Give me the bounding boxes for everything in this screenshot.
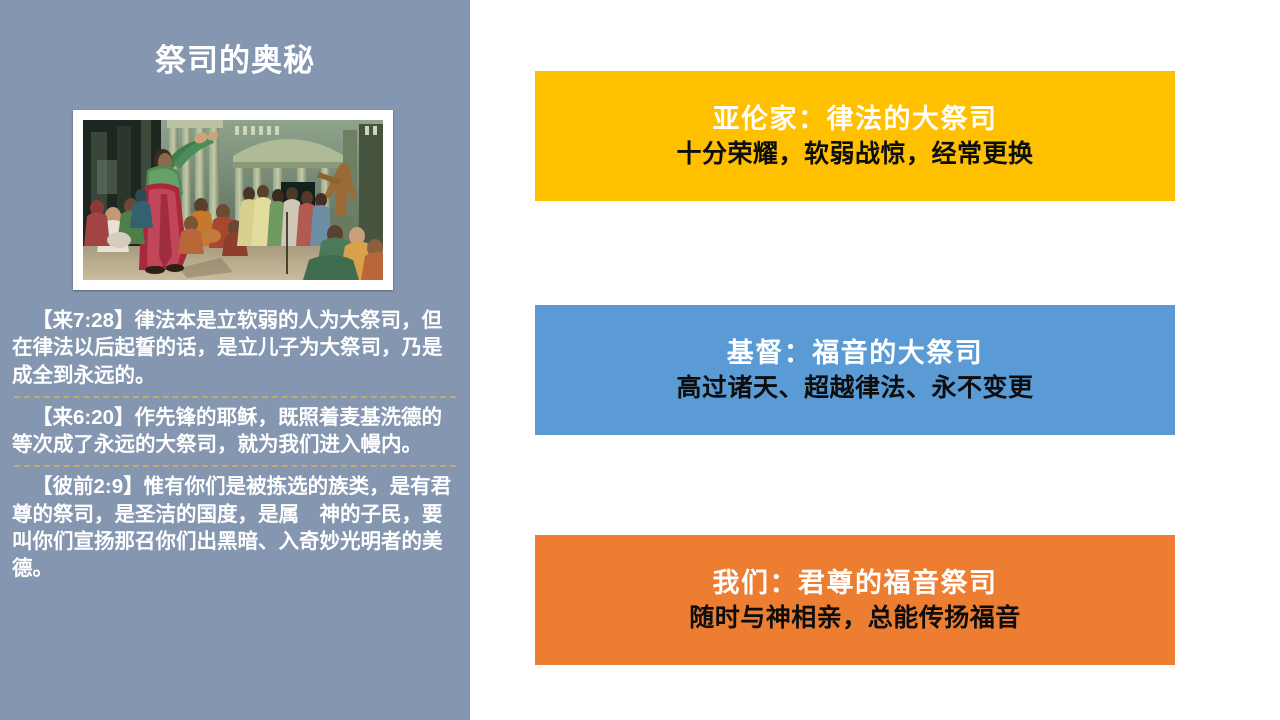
scripture-verse: 【来6:20】作先锋的耶稣，既照着麦基洗德的等次成了永远的大祭司，就为我们进入幔… [12, 403, 458, 463]
callout-title: 基督：福音的大祭司 [727, 337, 984, 369]
scripture-divider [14, 465, 456, 467]
scripture-list: 【来7:28】律法本是立软弱的人为大祭司，但在律法以后起誓的话，是立儿子为大祭司… [0, 306, 470, 586]
callout-title: 亚伦家：律法的大祭司 [713, 103, 998, 135]
callout-subtitle: 高过诸天、超越律法、永不变更 [676, 373, 1033, 403]
content-panel: 亚伦家：律法的大祭司 十分荣耀，软弱战惊，经常更换 基督：福音的大祭司 高过诸天… [470, 0, 1280, 720]
callout-subtitle: 十分荣耀，软弱战惊，经常更换 [676, 139, 1033, 169]
callout-subtitle: 随时与神相亲，总能传扬福音 [689, 603, 1021, 633]
picture-frame [73, 110, 393, 290]
presentation-slide: 祭司的奥秘 [0, 0, 1280, 720]
scripture-verse: 【来7:28】律法本是立软弱的人为大祭司，但在律法以后起誓的话，是立儿子为大祭司… [12, 306, 458, 393]
sidebar-panel: 祭司的奥秘 [0, 0, 470, 720]
page-title: 祭司的奥秘 [0, 44, 470, 78]
callout-title: 我们：君尊的福音祭司 [713, 567, 998, 599]
scripture-divider [14, 396, 456, 398]
callout-box-christ: 基督：福音的大祭司 高过诸天、超越律法、永不变更 [535, 305, 1175, 435]
callout-box-us: 我们：君尊的福音祭司 随时与神相亲，总能传扬福音 [535, 535, 1175, 665]
scripture-verse: 【彼前2:9】惟有你们是被拣选的族类，是有君尊的祭司，是圣洁的国度，是属 神的子… [12, 472, 458, 586]
st-paul-preaching-in-athens-painting [83, 120, 383, 280]
callout-box-aaron: 亚伦家：律法的大祭司 十分荣耀，软弱战惊，经常更换 [535, 71, 1175, 201]
